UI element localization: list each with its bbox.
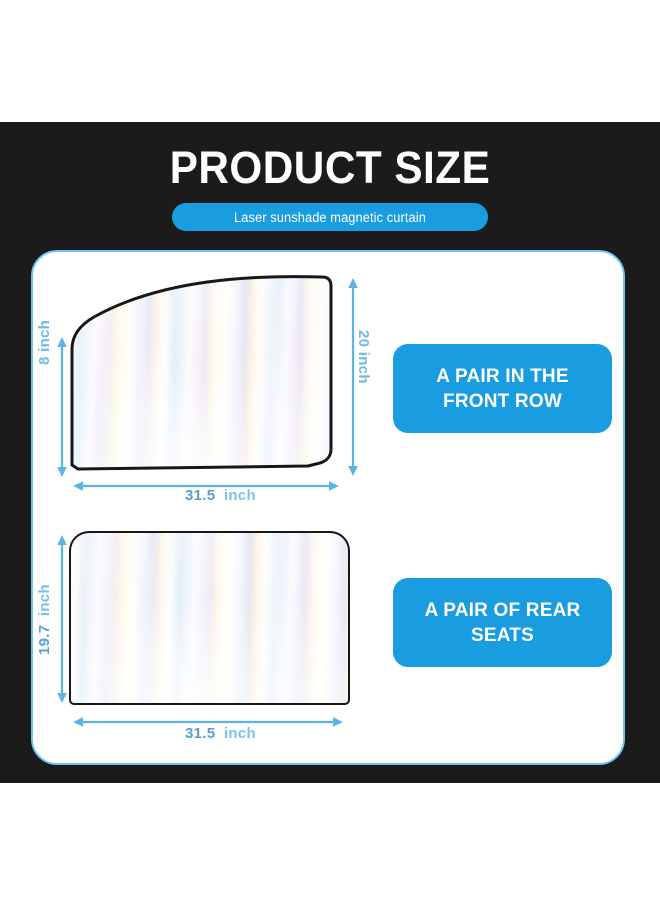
front-right-height-label: 20 inch	[355, 330, 372, 384]
subtitle-badge: Laser sunshade magnetic curtain	[172, 203, 488, 231]
callout-rear-seats: A PAIR OF REAR SEATS	[393, 578, 612, 667]
front-width-number: 31.5	[185, 487, 215, 504]
subtitle-badge-label: Laser sunshade magnetic curtain	[234, 210, 426, 225]
page-title: PRODUCT SIZE	[20, 142, 640, 194]
callout-front-row: A PAIR IN THE FRONT ROW	[393, 344, 612, 433]
front-left-height-arrow	[54, 336, 70, 478]
rear-height-unit: inch	[36, 584, 53, 616]
front-sunshade-outline	[66, 273, 341, 476]
front-left-height-label: 8 inch	[36, 320, 53, 365]
callout-front-row-label: A PAIR IN THE FRONT ROW	[403, 364, 602, 414]
callout-rear-seats-label: A PAIR OF REAR SEATS	[403, 598, 602, 648]
front-window-sunshade-image	[66, 273, 341, 476]
rear-height-arrow	[54, 534, 70, 704]
rear-sunshade-holographic-surface	[71, 533, 348, 703]
front-width-unit: inch	[224, 487, 256, 504]
rear-height-number: 19.7	[36, 625, 53, 655]
rear-width-label: 31.5 inch	[185, 725, 256, 742]
front-width-label: 31.5 inch	[185, 487, 256, 504]
rear-window-sunshade-image	[69, 531, 350, 705]
rear-width-number: 31.5	[185, 725, 215, 742]
rear-width-unit: inch	[224, 725, 256, 742]
rear-height-label: 19.7 inch	[36, 584, 53, 655]
